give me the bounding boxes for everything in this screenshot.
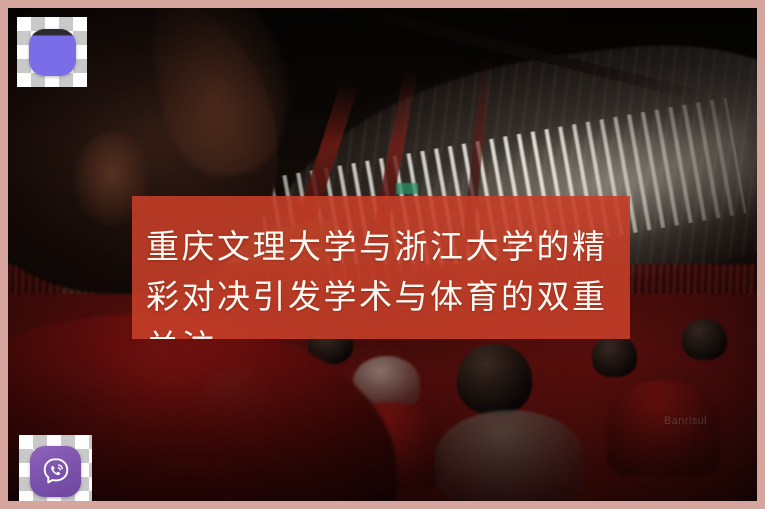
crowd-jersey bbox=[607, 381, 719, 476]
headline-text: 重庆文理大学与浙江大学的精彩对决引发学术与体育的双重关注 bbox=[146, 222, 608, 339]
crowd-shoulders bbox=[435, 410, 585, 501]
screenshot-frame: Banrisul risul 重庆文理大学与浙江大学的精彩对决引发学术与体育的双… bbox=[0, 0, 765, 509]
jersey-wordmark-right: Banrisul bbox=[664, 415, 707, 427]
crowd-head bbox=[457, 344, 532, 414]
field-sign bbox=[396, 183, 418, 194]
crowd-head bbox=[592, 335, 637, 376]
bottom-left-icon-tile[interactable] bbox=[19, 435, 92, 508]
app-placeholder-icon[interactable] bbox=[29, 29, 76, 76]
top-left-icon-tile[interactable] bbox=[17, 17, 87, 87]
viber-icon[interactable] bbox=[30, 446, 81, 497]
crowd-head bbox=[682, 319, 727, 360]
headline-banner: 重庆文理大学与浙江大学的精彩对决引发学术与体育的双重关注 bbox=[132, 196, 630, 339]
